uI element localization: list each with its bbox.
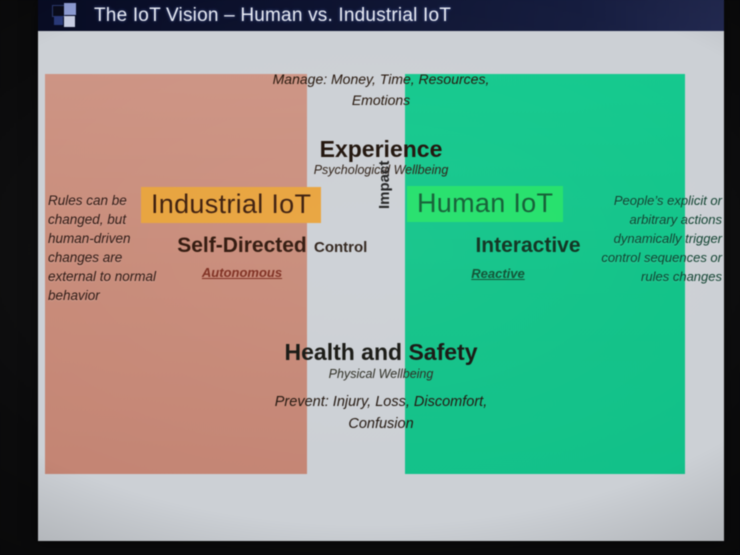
page-title: The IoT Vision – Human vs. Industrial Io… [94, 5, 451, 27]
manage-bullet-text: Manage: Money, Time, Resources, Emotions [271, 69, 491, 111]
axis-label-control: Control [314, 239, 367, 256]
slide-body: Manage: Money, Time, Resources, Emotions… [38, 31, 724, 541]
human-iot-title: Human IoT [407, 186, 563, 222]
industrial-iot-title: Industrial IoT [141, 187, 321, 223]
health-and-safety-heading: Health and Safety [251, 339, 511, 366]
human-trait-sub-label: Reactive [438, 266, 558, 281]
axis-label-impact: Impact [376, 161, 393, 209]
human-trait-label: Interactive [428, 234, 628, 258]
physical-wellbeing-subheading: Physical Wellbeing [251, 367, 511, 381]
projected-slide-photo: The IoT Vision – Human vs. Industrial Io… [0, 0, 740, 555]
slide-title-bar: The IoT Vision – Human vs. Industrial Io… [38, 0, 724, 31]
pixel-squares-logo-icon [50, 1, 84, 31]
industrial-trait-sub-label: Autonomous [172, 265, 312, 280]
industrial-trait-label: Self-Directed [152, 234, 332, 258]
prevent-bullet-text: Prevent: Injury, Loss, Discomfort, Confu… [251, 391, 511, 435]
experience-heading: Experience [271, 136, 491, 163]
slide-frame: The IoT Vision – Human vs. Industrial Io… [38, 0, 724, 541]
